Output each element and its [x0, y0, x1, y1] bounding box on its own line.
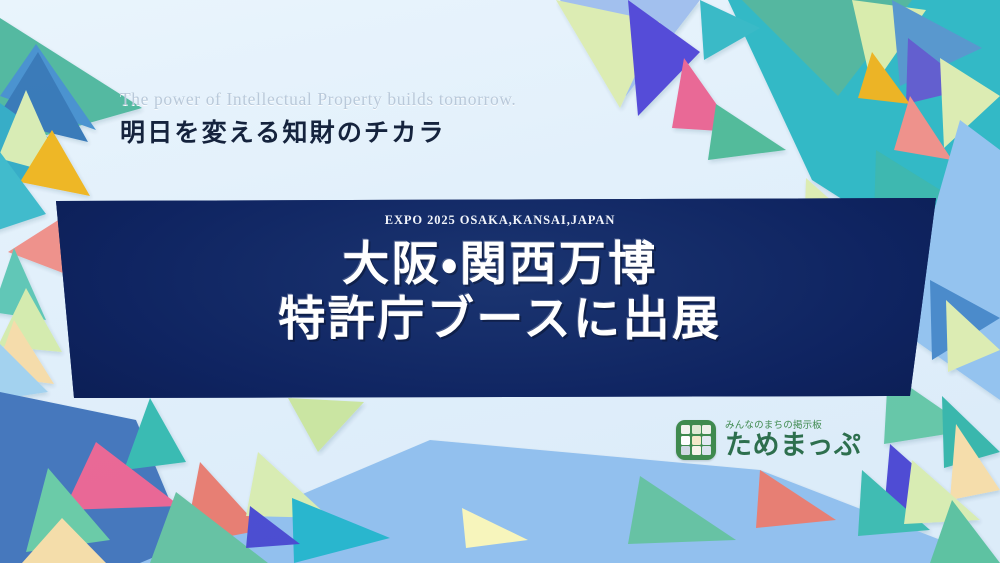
- expo-poster: The power of Intellectual Property build…: [0, 0, 1000, 563]
- banner-content: EXPO 2025 OSAKA,KANSAI,JAPAN 大阪・関西万博 特許庁…: [0, 198, 1000, 398]
- headline-line-2: 特許庁ブースに出展: [278, 292, 721, 347]
- logo-tile-1: [681, 425, 690, 434]
- logo-tile-5: [692, 436, 701, 445]
- logo-text-group: みんなのまちの掲示板 ためまっぷ: [725, 421, 861, 460]
- tagline-japanese: 明日を変える知財のチカラ: [120, 117, 516, 148]
- logo-tile-7: [681, 446, 690, 455]
- logo-tile-3: [702, 425, 711, 434]
- expo-label: EXPO 2025 OSAKA,KANSAI,JAPAN: [385, 213, 616, 228]
- tagline-english: The power of Intellectual Property build…: [120, 88, 516, 111]
- tagline-block: The power of Intellectual Property build…: [120, 88, 516, 148]
- navy-banner: EXPO 2025 OSAKA,KANSAI,JAPAN 大阪・関西万博 特許庁…: [0, 198, 1000, 398]
- logo-tile-6: [702, 436, 711, 445]
- logo-tile-2: [692, 425, 701, 434]
- logo-tile-8: [692, 446, 701, 455]
- logo-tile-9: [702, 446, 711, 455]
- tamemap-logo-lockup[interactable]: みんなのまちの掲示板 ためまっぷ: [676, 420, 861, 460]
- logo-subtitle: みんなのまちの掲示板: [725, 421, 861, 431]
- bulletin-board-icon: [676, 420, 716, 460]
- logo-tile-4: [681, 436, 690, 445]
- headline: 大阪・関西万博 特許庁ブースに出展: [278, 237, 721, 348]
- logo-name: ためまっぷ: [725, 432, 861, 459]
- headline-line-1: 大阪・関西万博: [342, 237, 657, 292]
